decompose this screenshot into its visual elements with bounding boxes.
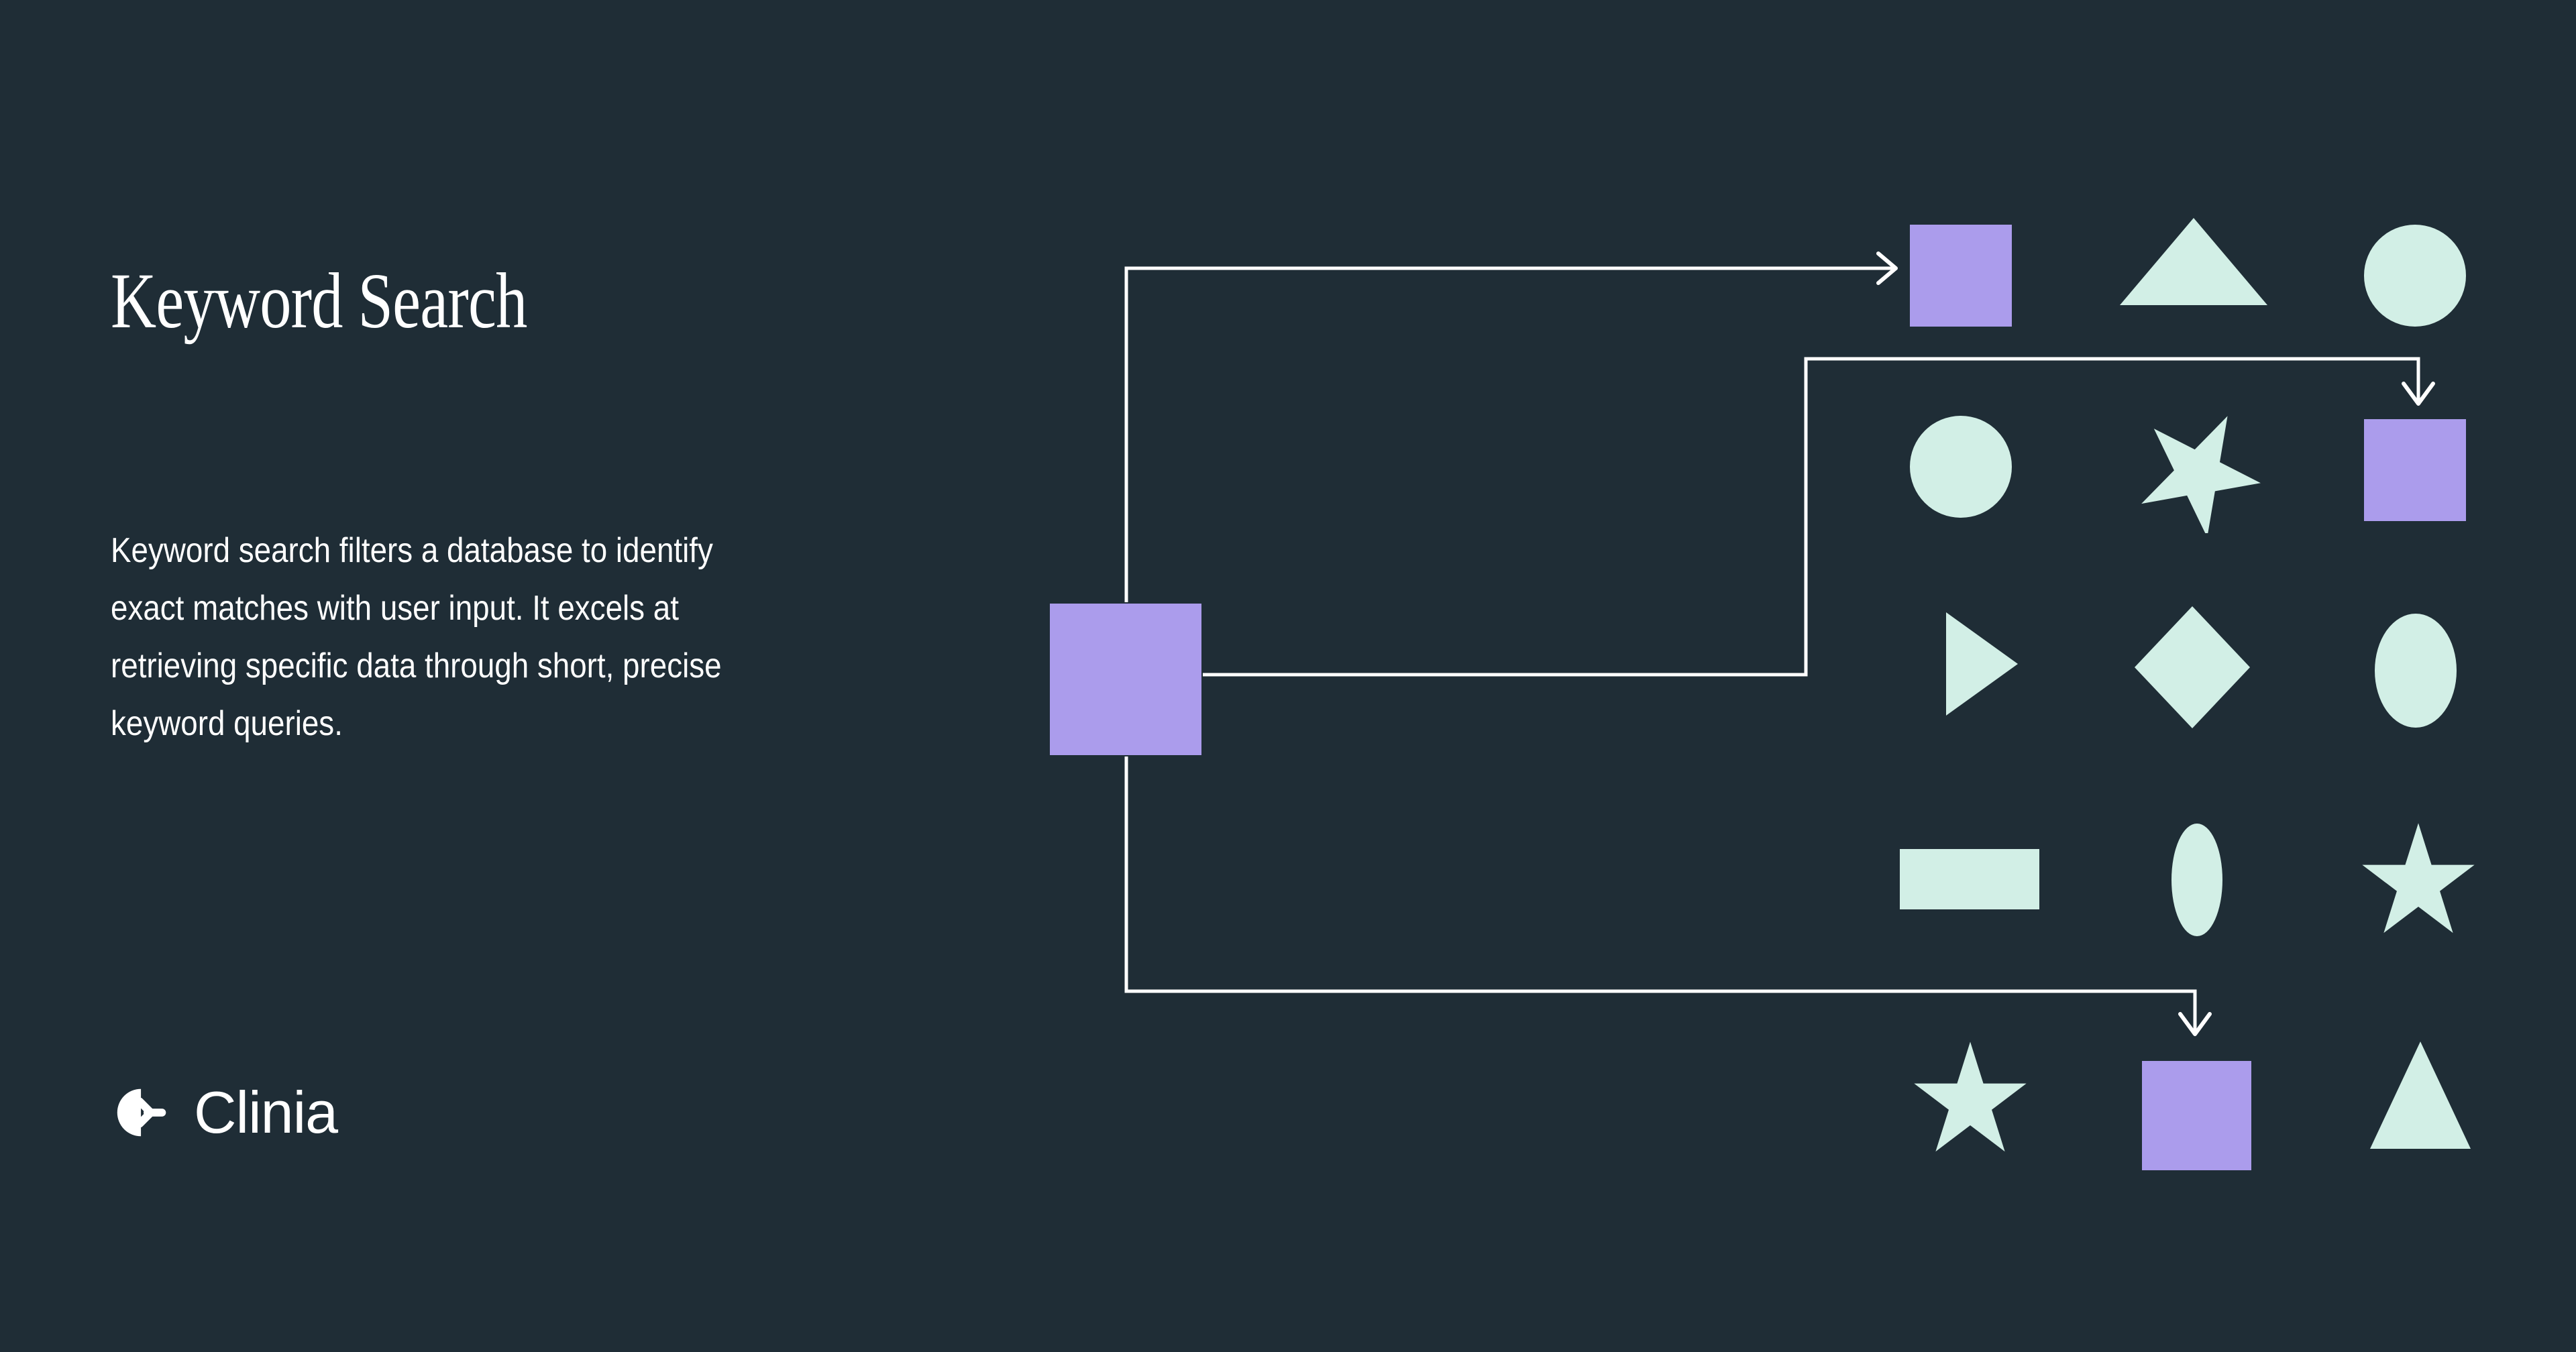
connector-middle-arrowhead	[2404, 384, 2433, 404]
match-row1-col1	[1910, 225, 2012, 327]
query-node	[1050, 604, 1201, 755]
brand-logo-lockup: Clinia	[111, 1080, 337, 1145]
item-row4-col3	[2359, 820, 2478, 939]
connector-top-path	[1126, 268, 1894, 602]
page-title: Keyword Search	[111, 262, 527, 341]
connector-bottom-arrowhead	[2180, 1014, 2210, 1034]
brand-name: Clinia	[194, 1083, 337, 1142]
match-row2-col3	[2364, 419, 2466, 521]
item-row3-col1	[1943, 610, 2020, 718]
left-content-panel: Keyword Search Keyword search filters a …	[111, 0, 849, 1352]
item-row2-col1	[1910, 416, 2012, 518]
item-row4-col1	[1900, 849, 2039, 909]
connector-top-arrowhead	[1878, 253, 1896, 283]
item-row1-col2	[2116, 215, 2271, 308]
match-row5-col2	[2142, 1061, 2251, 1170]
item-row5-col3	[2367, 1038, 2474, 1152]
item-row3-col2	[2132, 604, 2253, 731]
clinia-logo-icon	[111, 1080, 176, 1145]
body-description: Keyword search filters a database to ide…	[111, 522, 743, 752]
item-row1-col3	[2364, 225, 2466, 327]
item-row4-col2	[2171, 824, 2222, 936]
item-row3-col3	[2375, 614, 2457, 728]
item-row5-col1	[1911, 1038, 2030, 1158]
slide-canvas: Keyword Search Keyword search filters a …	[0, 0, 2576, 1352]
item-row2-col2	[2137, 406, 2264, 533]
